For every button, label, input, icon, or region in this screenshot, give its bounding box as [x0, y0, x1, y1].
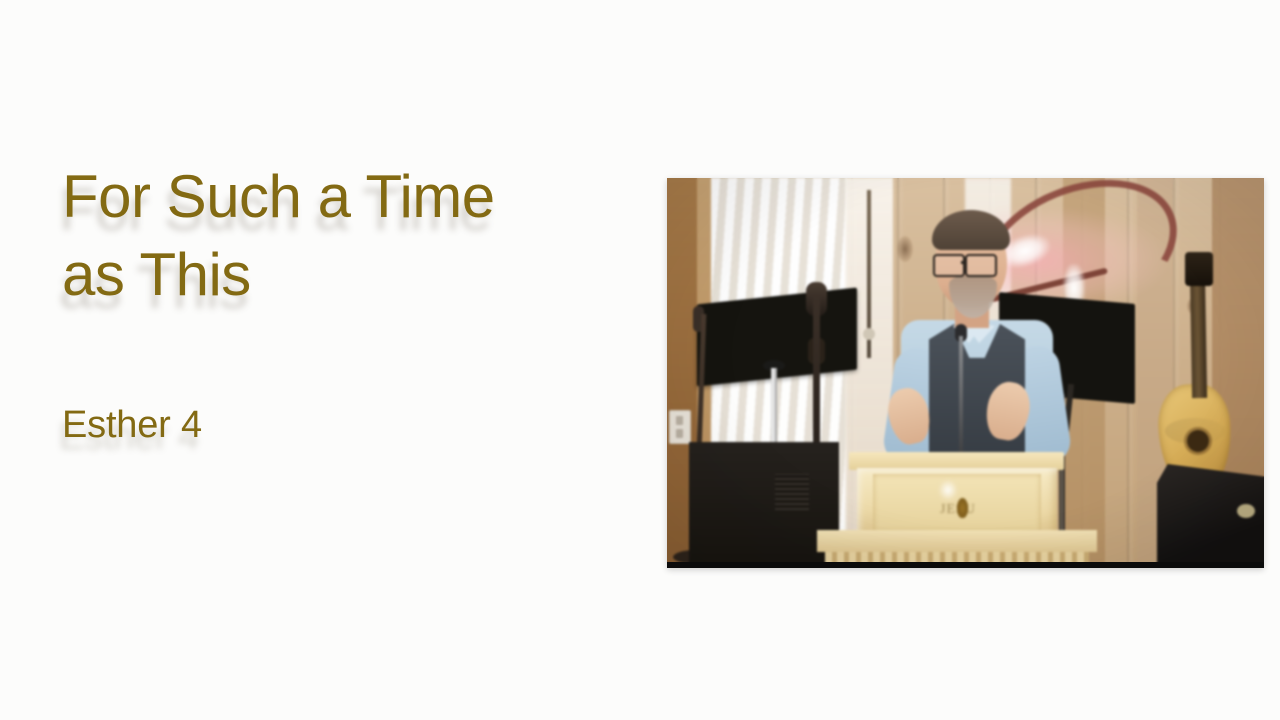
speaker-hair	[932, 210, 1010, 250]
acoustic-guitar-soundhole	[1187, 430, 1209, 452]
monitor-speaker-knob	[1237, 504, 1255, 518]
glasses-bridge	[961, 261, 967, 264]
pulpit-seal-emblem	[957, 498, 968, 518]
electrical-outlet	[669, 410, 691, 444]
pulpit-cross-motif	[937, 478, 959, 502]
speaker-figure	[875, 216, 1083, 476]
video-scene: JESU	[667, 178, 1264, 568]
glasses-icon	[933, 254, 965, 277]
sermon-title-slide: For Such a Time as This Esther 4	[0, 0, 1280, 720]
title-text-block: For Such a Time as This	[62, 158, 622, 314]
sermon-video-panel[interactable]: JESU	[667, 178, 1264, 568]
scripture-reference: Esther 4	[62, 402, 202, 450]
acoustic-guitar-headstock	[1185, 252, 1213, 286]
page-title: For Such a Time as This	[62, 158, 622, 314]
wall-rod-knob	[863, 328, 875, 340]
glasses-icon	[965, 254, 997, 277]
acoustic-guitar-neck	[1190, 270, 1207, 398]
pulpit-microphone-stem	[959, 336, 963, 460]
video-letterbox-bar	[667, 562, 1264, 568]
pulpit-base-ledge	[817, 530, 1097, 552]
amplifier-left-grill	[775, 474, 809, 510]
music-stand-left-desk	[697, 288, 857, 387]
